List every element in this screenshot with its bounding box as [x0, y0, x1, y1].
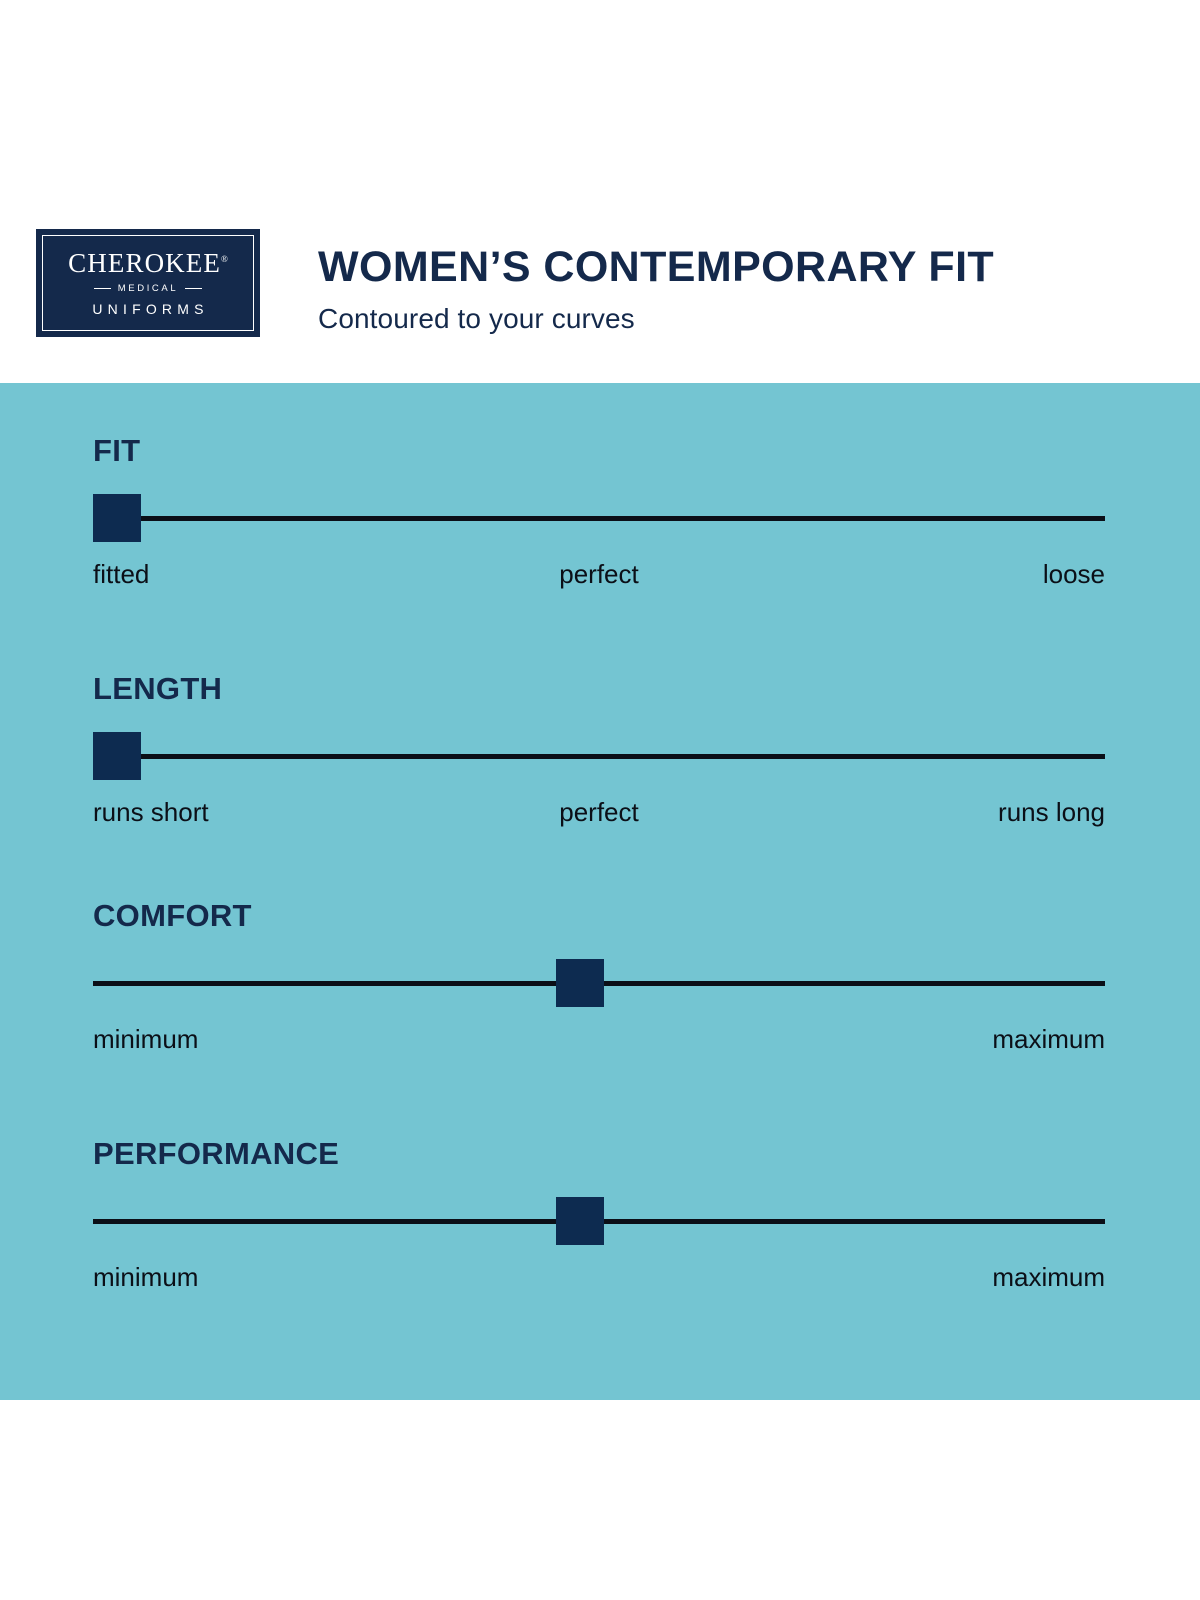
footer-whitespace: [0, 1400, 1200, 1600]
page-subtitle: Contoured to your curves: [318, 304, 994, 335]
scale-label-right: maximum: [992, 1025, 1105, 1054]
scale-label-left: fitted: [93, 560, 149, 589]
slider-handle-fit[interactable]: [93, 494, 141, 542]
slider-handle-performance[interactable]: [556, 1197, 604, 1245]
slider-group-fit: FIT fitted perfect loose: [93, 435, 1105, 594]
slider-scale-comfort: minimum maximum: [93, 1025, 1105, 1059]
header-text-block: WOMEN’S CONTEMPORARY FIT Contoured to yo…: [318, 245, 994, 337]
logo-inner-border: CHEROKEE® MEDICAL UNIFORMS: [42, 235, 254, 331]
track-line: [93, 754, 1105, 759]
page-header: CHEROKEE® MEDICAL UNIFORMS WOMEN’S CONTE…: [0, 0, 1200, 383]
cherokee-logo: CHEROKEE® MEDICAL UNIFORMS: [36, 229, 260, 337]
logo-brand-text: CHEROKEE: [68, 248, 221, 278]
slider-title-fit: FIT: [93, 435, 1105, 466]
slider-track-fit[interactable]: [93, 494, 1105, 542]
slider-track-performance[interactable]: [93, 1197, 1105, 1245]
scale-label-center: perfect: [559, 560, 639, 589]
slider-handle-comfort[interactable]: [556, 959, 604, 1007]
logo-uniforms-text: UNIFORMS: [87, 302, 208, 316]
logo-medical-text: MEDICAL: [118, 284, 178, 294]
slider-scale-performance: minimum maximum: [93, 1263, 1105, 1297]
slider-group-comfort: COMFORT minimum maximum: [93, 900, 1105, 1059]
logo-brand-name: CHEROKEE®: [68, 250, 228, 277]
scale-label-left: minimum: [93, 1263, 198, 1292]
slider-scale-fit: fitted perfect loose: [93, 560, 1105, 594]
scale-label-left: minimum: [93, 1025, 198, 1054]
scale-label-left: runs short: [93, 798, 209, 827]
page-title: WOMEN’S CONTEMPORARY FIT: [318, 245, 994, 290]
slider-group-performance: PERFORMANCE minimum maximum: [93, 1138, 1105, 1297]
registered-trademark-icon: ®: [221, 254, 228, 264]
scale-label-right: loose: [1043, 560, 1105, 589]
slider-title-performance: PERFORMANCE: [93, 1138, 1105, 1169]
fit-guide-page: CHEROKEE® MEDICAL UNIFORMS WOMEN’S CONTE…: [0, 0, 1200, 1600]
logo-rule-left-icon: [94, 288, 111, 290]
slider-title-comfort: COMFORT: [93, 900, 1105, 931]
slider-title-length: LENGTH: [93, 673, 1105, 704]
scale-label-right: runs long: [998, 798, 1105, 827]
scale-label-center: perfect: [559, 798, 639, 827]
slider-scale-length: runs short perfect runs long: [93, 798, 1105, 832]
slider-group-length: LENGTH runs short perfect runs long: [93, 673, 1105, 832]
fit-attributes-panel: FIT fitted perfect loose LENGTH: [0, 383, 1200, 1400]
track-line: [93, 516, 1105, 521]
slider-handle-length[interactable]: [93, 732, 141, 780]
logo-rule-right-icon: [185, 288, 202, 290]
slider-track-length[interactable]: [93, 732, 1105, 780]
slider-track-comfort[interactable]: [93, 959, 1105, 1007]
logo-medical-row: MEDICAL: [94, 284, 202, 294]
scale-label-right: maximum: [992, 1263, 1105, 1292]
